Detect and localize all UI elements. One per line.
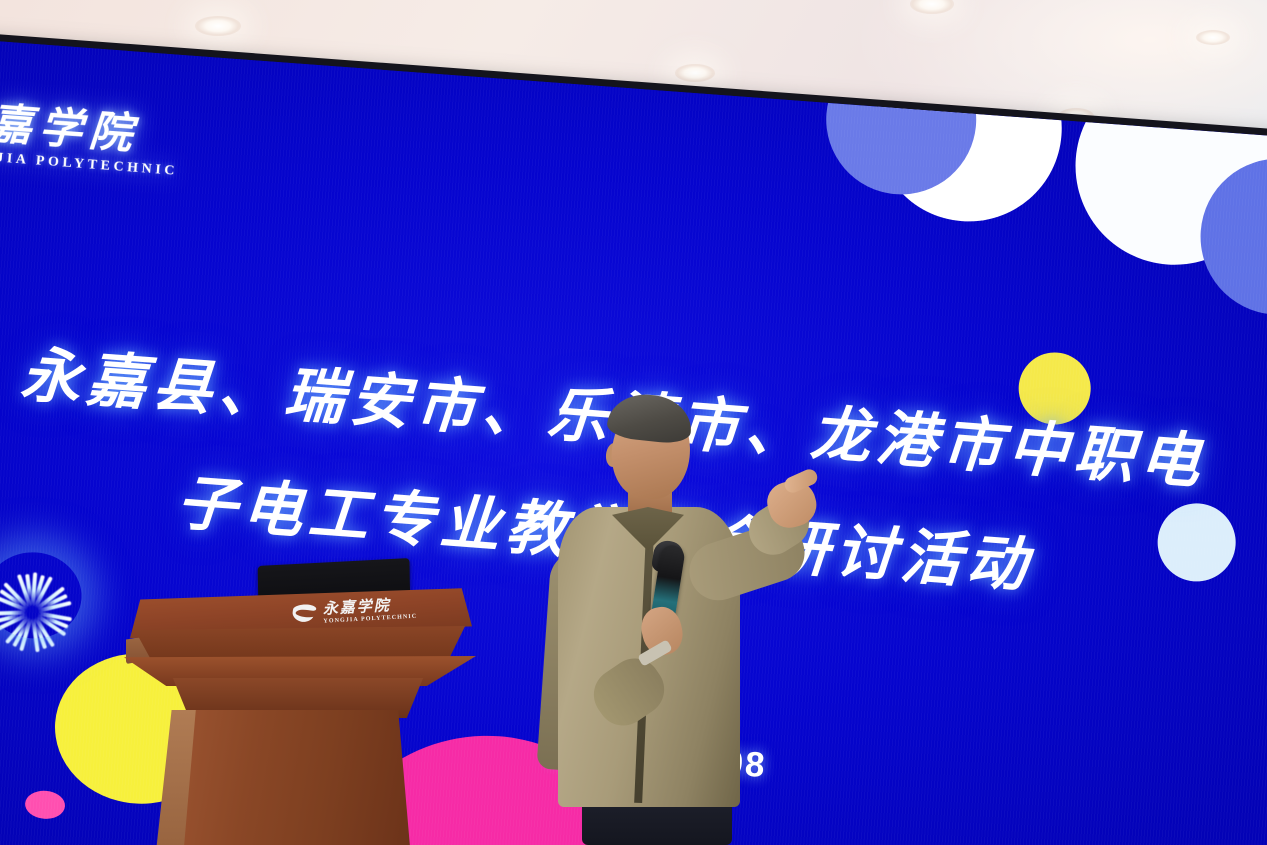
screen-logo-chinese: 永嘉学院 — [0, 99, 182, 160]
decor-dot-pink — [24, 789, 66, 820]
decor-circle-paleblue — [0, 837, 140, 845]
decor-starburst-icon — [0, 541, 96, 649]
speaker-person — [520, 395, 820, 845]
podium-swoosh-emblem-icon — [291, 602, 318, 625]
screen-logo-text: 永嘉学院 YONGJIA POLYTECHNIC — [0, 99, 182, 179]
speaker-podium: 永嘉学院 YONGJIA POLYTECHNIC — [120, 560, 482, 845]
podium-column — [182, 710, 412, 845]
screen-school-logo: 永嘉学院 YONGJIA POLYTECHNIC — [0, 93, 182, 179]
ceiling-downlight — [675, 64, 715, 82]
presentation-photo-scene: 永嘉学院 YONGJIA POLYTECHNIC 永嘉县、瑞安市、乐清市、龙港市… — [0, 0, 1267, 845]
ceiling-downlight — [195, 16, 241, 36]
ceiling-downlight — [1196, 30, 1230, 45]
